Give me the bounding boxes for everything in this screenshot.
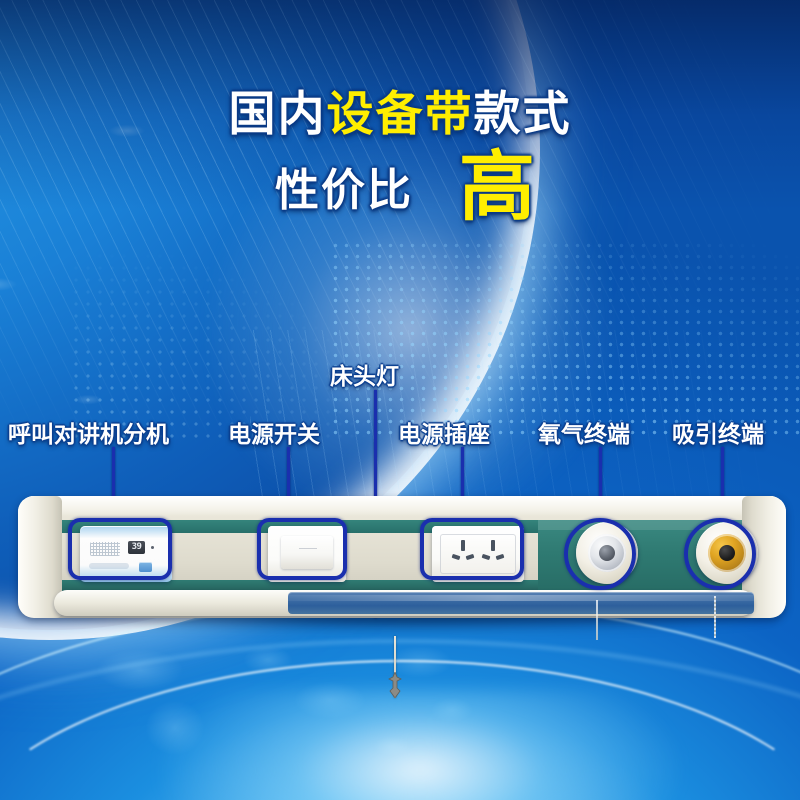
suction-terminal-cord [714,596,716,638]
panel-blue-rail [288,592,754,614]
panel-top-highlight [18,496,786,516]
oxygen-terminal-cord [596,600,598,640]
callout-label-power-socket: 电源插座 [398,415,490,449]
highlight-box-power-socket [420,518,524,580]
callout-label-suction-terminal: 吸引终端 [672,415,764,449]
callout-label-intercom: 呼叫对讲机分机 [8,415,169,449]
halftone-dots-left [70,250,370,440]
highlight-box-power-switch [257,518,347,580]
horizon-glow [160,690,680,800]
lamp-pull-handle[interactable] [384,672,406,698]
callout-label-power-switch: 电源开关 [228,415,320,449]
callout-label-oxygen-terminal: 氧气终端 [538,415,630,449]
highlight-circle-oxygen-terminal [564,518,636,590]
halftone-dots-right [330,240,800,440]
highlight-box-intercom [68,518,172,580]
poster-canvas: 国内设备带款式 性价比高 呼叫对讲机分机 电源开关 床头灯 电源插座 氧气终端 … [0,0,800,800]
blue-rail-sheen [288,595,754,601]
callout-label-bedside-lamp: 床头灯 [330,357,399,391]
highlight-circle-suction-terminal [684,518,756,590]
